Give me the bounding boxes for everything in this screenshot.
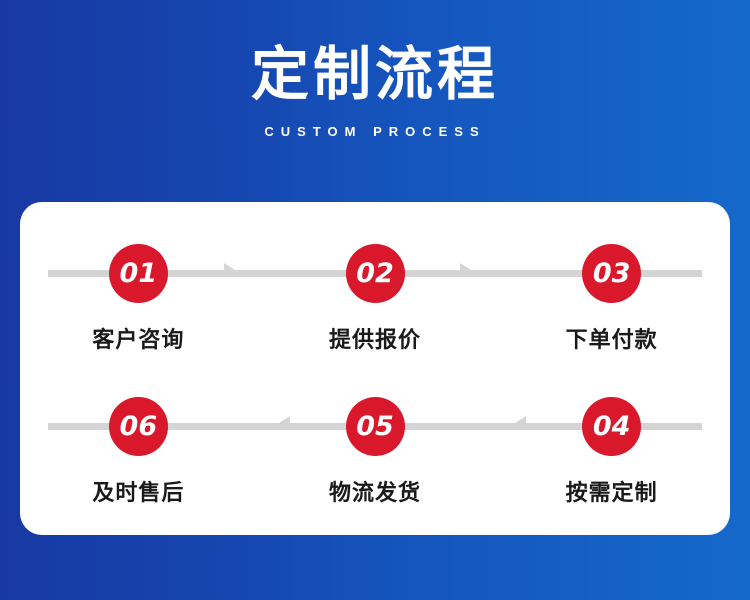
process-step-05[interactable]: 05 物流发货 xyxy=(257,383,494,523)
page-title: 定制流程 xyxy=(0,44,750,105)
process-step-06[interactable]: 06 及时售后 xyxy=(20,383,257,523)
step-number-badge: 04 xyxy=(582,397,641,456)
step-number-badge: 02 xyxy=(346,244,405,303)
process-card: 01 客户咨询 02 提供报价 03 下单付款 06 及时售后 xyxy=(20,202,730,535)
step-label: 下单付款 xyxy=(493,322,730,354)
step-number-badge: 05 xyxy=(346,397,405,456)
step-label: 提供报价 xyxy=(257,322,494,354)
step-number-badge: 03 xyxy=(582,244,641,303)
arrow-left-icon xyxy=(515,416,526,430)
process-step-01[interactable]: 01 客户咨询 xyxy=(20,230,257,370)
step-label: 客户咨询 xyxy=(20,322,257,354)
arrow-right-icon xyxy=(224,263,235,277)
step-label: 及时售后 xyxy=(20,475,257,507)
process-row-top: 01 客户咨询 02 提供报价 03 下单付款 xyxy=(20,230,730,370)
step-label: 按需定制 xyxy=(493,475,730,507)
process-row-bottom: 06 及时售后 05 物流发货 04 按需定制 xyxy=(20,383,730,523)
arrow-left-icon xyxy=(279,416,290,430)
process-step-02[interactable]: 02 提供报价 xyxy=(257,230,494,370)
arrow-right-icon xyxy=(460,263,471,277)
step-number-badge: 06 xyxy=(109,397,168,456)
page-subtitle: CUSTOM PROCESS xyxy=(0,124,750,139)
banner-header: 定制流程 CUSTOM PROCESS xyxy=(0,0,750,139)
process-step-04[interactable]: 04 按需定制 xyxy=(493,383,730,523)
step-label: 物流发货 xyxy=(257,475,494,507)
custom-process-banner: 定制流程 CUSTOM PROCESS 01 客户咨询 02 提供报价 03 下… xyxy=(0,0,750,600)
process-step-03[interactable]: 03 下单付款 xyxy=(493,230,730,370)
step-number-badge: 01 xyxy=(109,244,168,303)
